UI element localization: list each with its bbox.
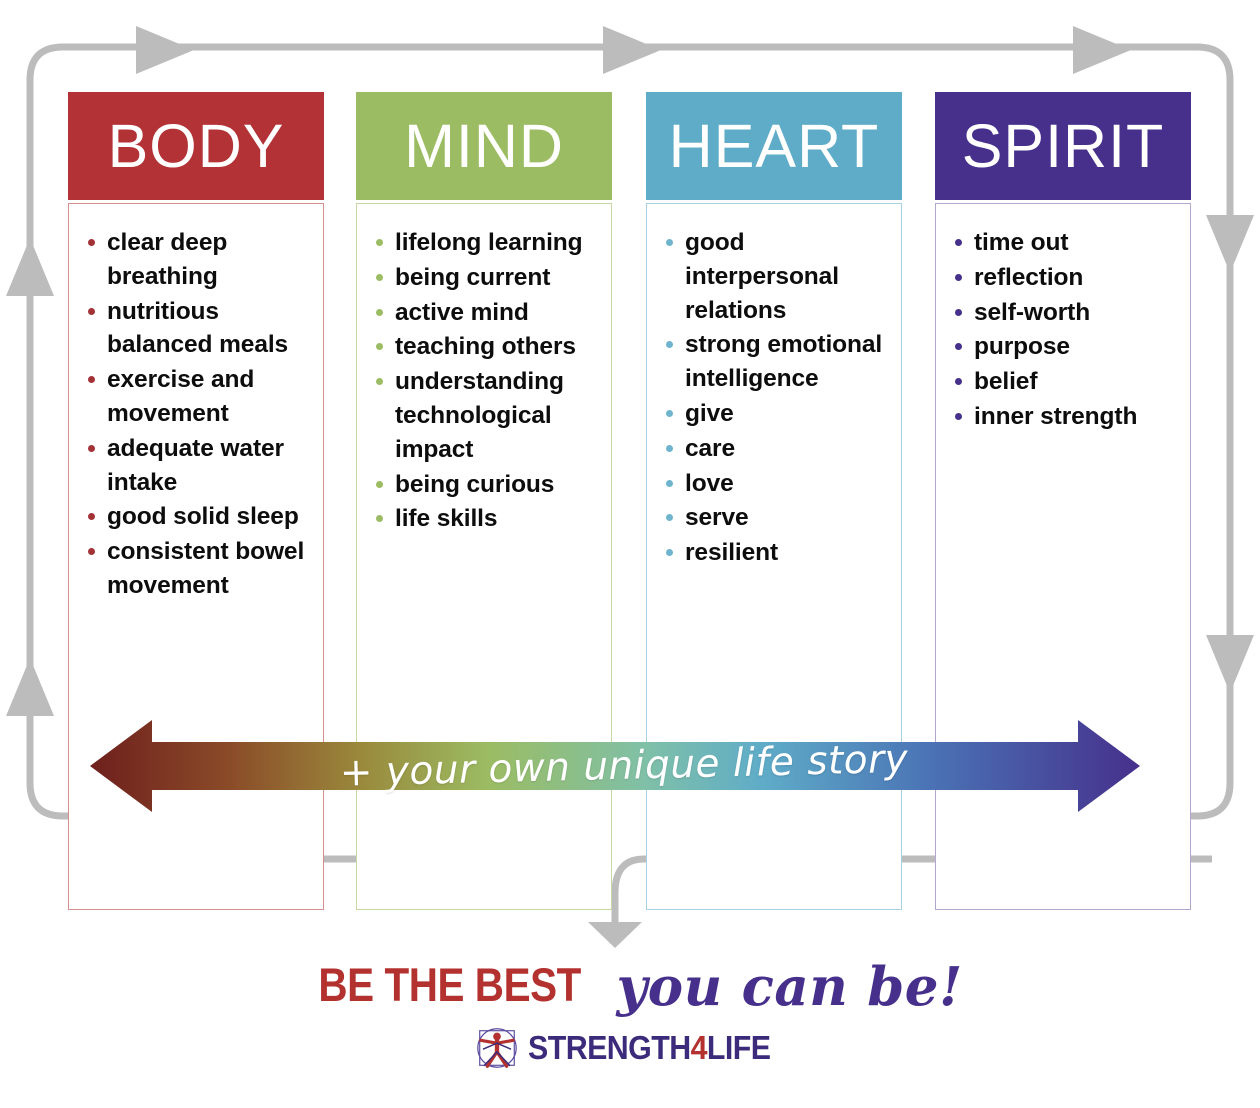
list-item: good solid sleep: [79, 500, 313, 534]
list-item: love: [657, 467, 891, 501]
list-item: exercise and movement: [79, 363, 313, 431]
list-item: reflection: [946, 261, 1180, 295]
infographic-canvas: BODY clear deep breathing nutritious bal…: [0, 0, 1260, 1108]
list-item: inner strength: [946, 400, 1180, 434]
list-item: belief: [946, 365, 1180, 399]
vitruvian-man-icon: [473, 1024, 521, 1072]
logo-word-strength: STRENGTH: [528, 1029, 691, 1066]
list-item: give: [657, 397, 891, 431]
list-item: purpose: [946, 330, 1180, 364]
logo-wordmark: STRENGTH4LIFE: [528, 1029, 770, 1067]
pillar-columns: BODY clear deep breathing nutritious bal…: [0, 0, 1260, 1108]
column-body: BODY clear deep breathing nutritious bal…: [68, 92, 324, 200]
tagline-bold: BE THE BEST: [319, 957, 582, 1012]
column-list-body: clear deep breathing nutritious balanced…: [69, 204, 323, 614]
list-item: being curious: [367, 468, 601, 502]
list-item: teaching others: [367, 330, 601, 364]
column-heading-label: MIND: [404, 116, 564, 177]
footer: BE THE BEST you can be! STRENGTH4LIFE: [0, 952, 1260, 1102]
logo-word-life: LIFE: [707, 1029, 771, 1066]
list-item: lifelong learning: [367, 226, 601, 260]
list-item: serve: [657, 501, 891, 535]
brand-logo: STRENGTH4LIFE: [0, 1024, 1260, 1072]
list-item: understanding technological impact: [367, 365, 601, 466]
tagline-script: you can be!: [616, 956, 962, 1018]
list-item: being current: [367, 261, 601, 295]
column-heading-body: BODY: [68, 92, 324, 200]
list-item: nutritious balanced meals: [79, 295, 313, 363]
column-heading-label: SPIRIT: [962, 116, 1165, 177]
column-heading-mind: MIND: [356, 92, 612, 200]
column-heading-heart: HEART: [646, 92, 902, 200]
column-list-mind: lifelong learning being current active m…: [357, 204, 611, 547]
column-mind: MIND lifelong learning being current act…: [356, 92, 612, 200]
column-spirit: SPIRIT time out reflection self-worth pu…: [935, 92, 1191, 200]
list-item: care: [657, 432, 891, 466]
list-item: active mind: [367, 296, 601, 330]
list-item: self-worth: [946, 296, 1180, 330]
list-item: strong emotional intelligence: [657, 328, 891, 396]
list-item: adequate water intake: [79, 432, 313, 500]
list-item: clear deep breathing: [79, 226, 313, 294]
list-item: life skills: [367, 502, 601, 536]
list-item: time out: [946, 226, 1180, 260]
tagline: BE THE BEST you can be!: [0, 952, 1260, 1014]
column-list-spirit: time out reflection self-worth purpose b…: [936, 204, 1190, 445]
column-heart: HEART good interpersonal relations stron…: [646, 92, 902, 200]
logo-word-four: 4: [690, 1029, 706, 1066]
list-item: good interpersonal relations: [657, 226, 891, 327]
life-story-banner: + your own unique life story: [90, 716, 1140, 816]
column-list-heart: good interpersonal relations strong emot…: [647, 204, 901, 581]
column-heading-spirit: SPIRIT: [935, 92, 1191, 200]
column-heading-label: BODY: [108, 116, 285, 177]
list-item: resilient: [657, 536, 891, 570]
column-heading-label: HEART: [669, 116, 880, 177]
list-item: consistent bowel movement: [79, 535, 313, 603]
